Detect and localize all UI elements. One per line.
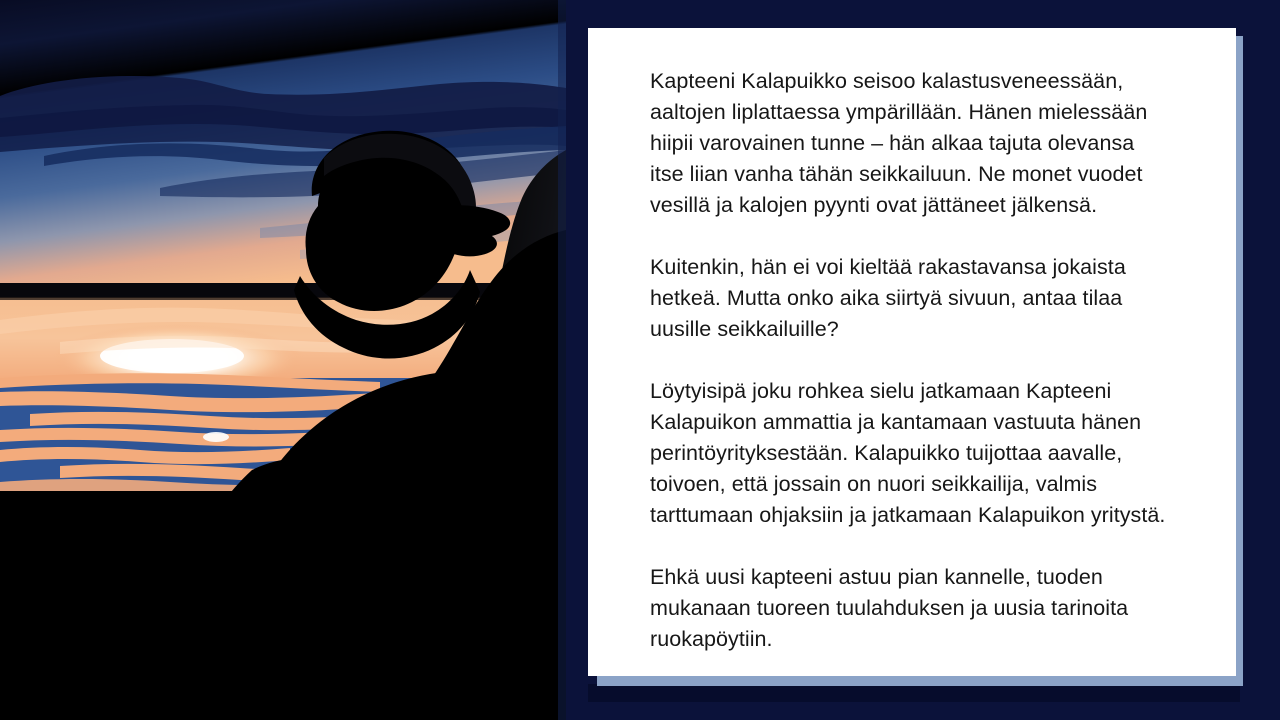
sunset-illustration bbox=[0, 0, 566, 720]
paragraph-2: Kuitenkin, hän ei voi kieltää rakastavan… bbox=[650, 252, 1170, 345]
paragraph-4: Ehkä uusi kapteeni astuu pian kannelle, … bbox=[650, 562, 1170, 655]
sea-captain-silhouette-image bbox=[0, 0, 566, 720]
paragraph-3: Löytyisipä joku rohkea sielu jatkamaan K… bbox=[650, 376, 1170, 531]
photo-right-edge bbox=[558, 0, 566, 720]
presentation-slide: Kapteeni Kalapuikko seisoo kalastusvenee… bbox=[0, 0, 1280, 720]
paragraph-1: Kapteeni Kalapuikko seisoo kalastusvenee… bbox=[650, 66, 1170, 221]
text-card: Kapteeni Kalapuikko seisoo kalastusvenee… bbox=[588, 28, 1236, 676]
railing-bar bbox=[0, 283, 566, 298]
card-body: Kapteeni Kalapuikko seisoo kalastusvenee… bbox=[650, 66, 1170, 655]
card-dark-band bbox=[588, 684, 1240, 702]
